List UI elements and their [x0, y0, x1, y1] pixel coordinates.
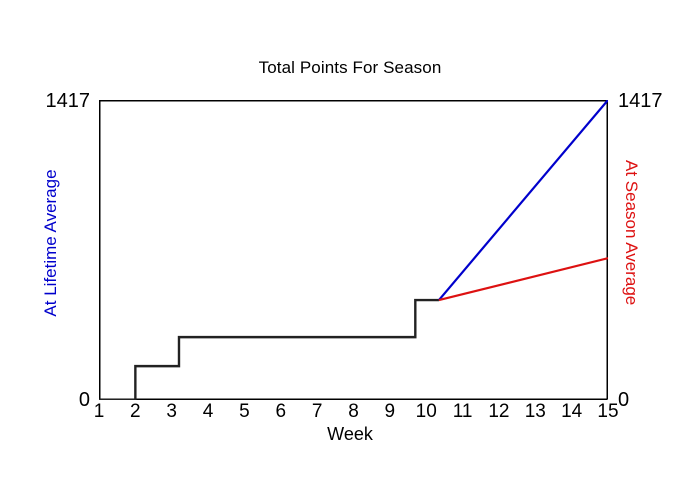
x-axis-tick-6: 6: [261, 402, 301, 421]
plot-area: [99, 100, 608, 400]
series-at-season-average: [439, 258, 608, 300]
y-axis-left-title-text: At Lifetime Average: [42, 158, 59, 328]
x-axis-tick-8: 8: [334, 402, 374, 421]
series-actual-points-to-date: [99, 300, 439, 400]
x-axis-tick-5: 5: [224, 402, 264, 421]
x-axis-tick-11: 11: [443, 402, 483, 421]
x-axis-tick-9: 9: [370, 402, 410, 421]
y-axis-left-tick-max: 1417: [46, 91, 91, 111]
axis-frame: [100, 101, 608, 400]
series-at-lifetime-average: [439, 100, 608, 300]
x-axis-title: Week: [0, 424, 700, 445]
x-axis-tick-1: 1: [79, 402, 119, 421]
plot-svg: [99, 100, 608, 400]
chart-container: Total Points For Season 1417 0 1417 0 At…: [0, 0, 700, 500]
x-axis-tick-7: 7: [297, 402, 337, 421]
x-axis-tick-10: 10: [406, 402, 446, 421]
y-axis-right-tick-max: 1417: [618, 91, 663, 111]
x-axis-tick-14: 14: [552, 402, 592, 421]
chart-title: Total Points For Season: [0, 58, 700, 78]
x-axis-tick-3: 3: [152, 402, 192, 421]
x-axis-tick-12: 12: [479, 402, 519, 421]
x-axis-tick-13: 13: [515, 402, 555, 421]
y-axis-right-title: At Season Average: [623, 160, 640, 305]
x-axis-tick-15: 15: [588, 402, 628, 421]
x-axis-tick-4: 4: [188, 402, 228, 421]
x-axis-tick-2: 2: [115, 402, 155, 421]
